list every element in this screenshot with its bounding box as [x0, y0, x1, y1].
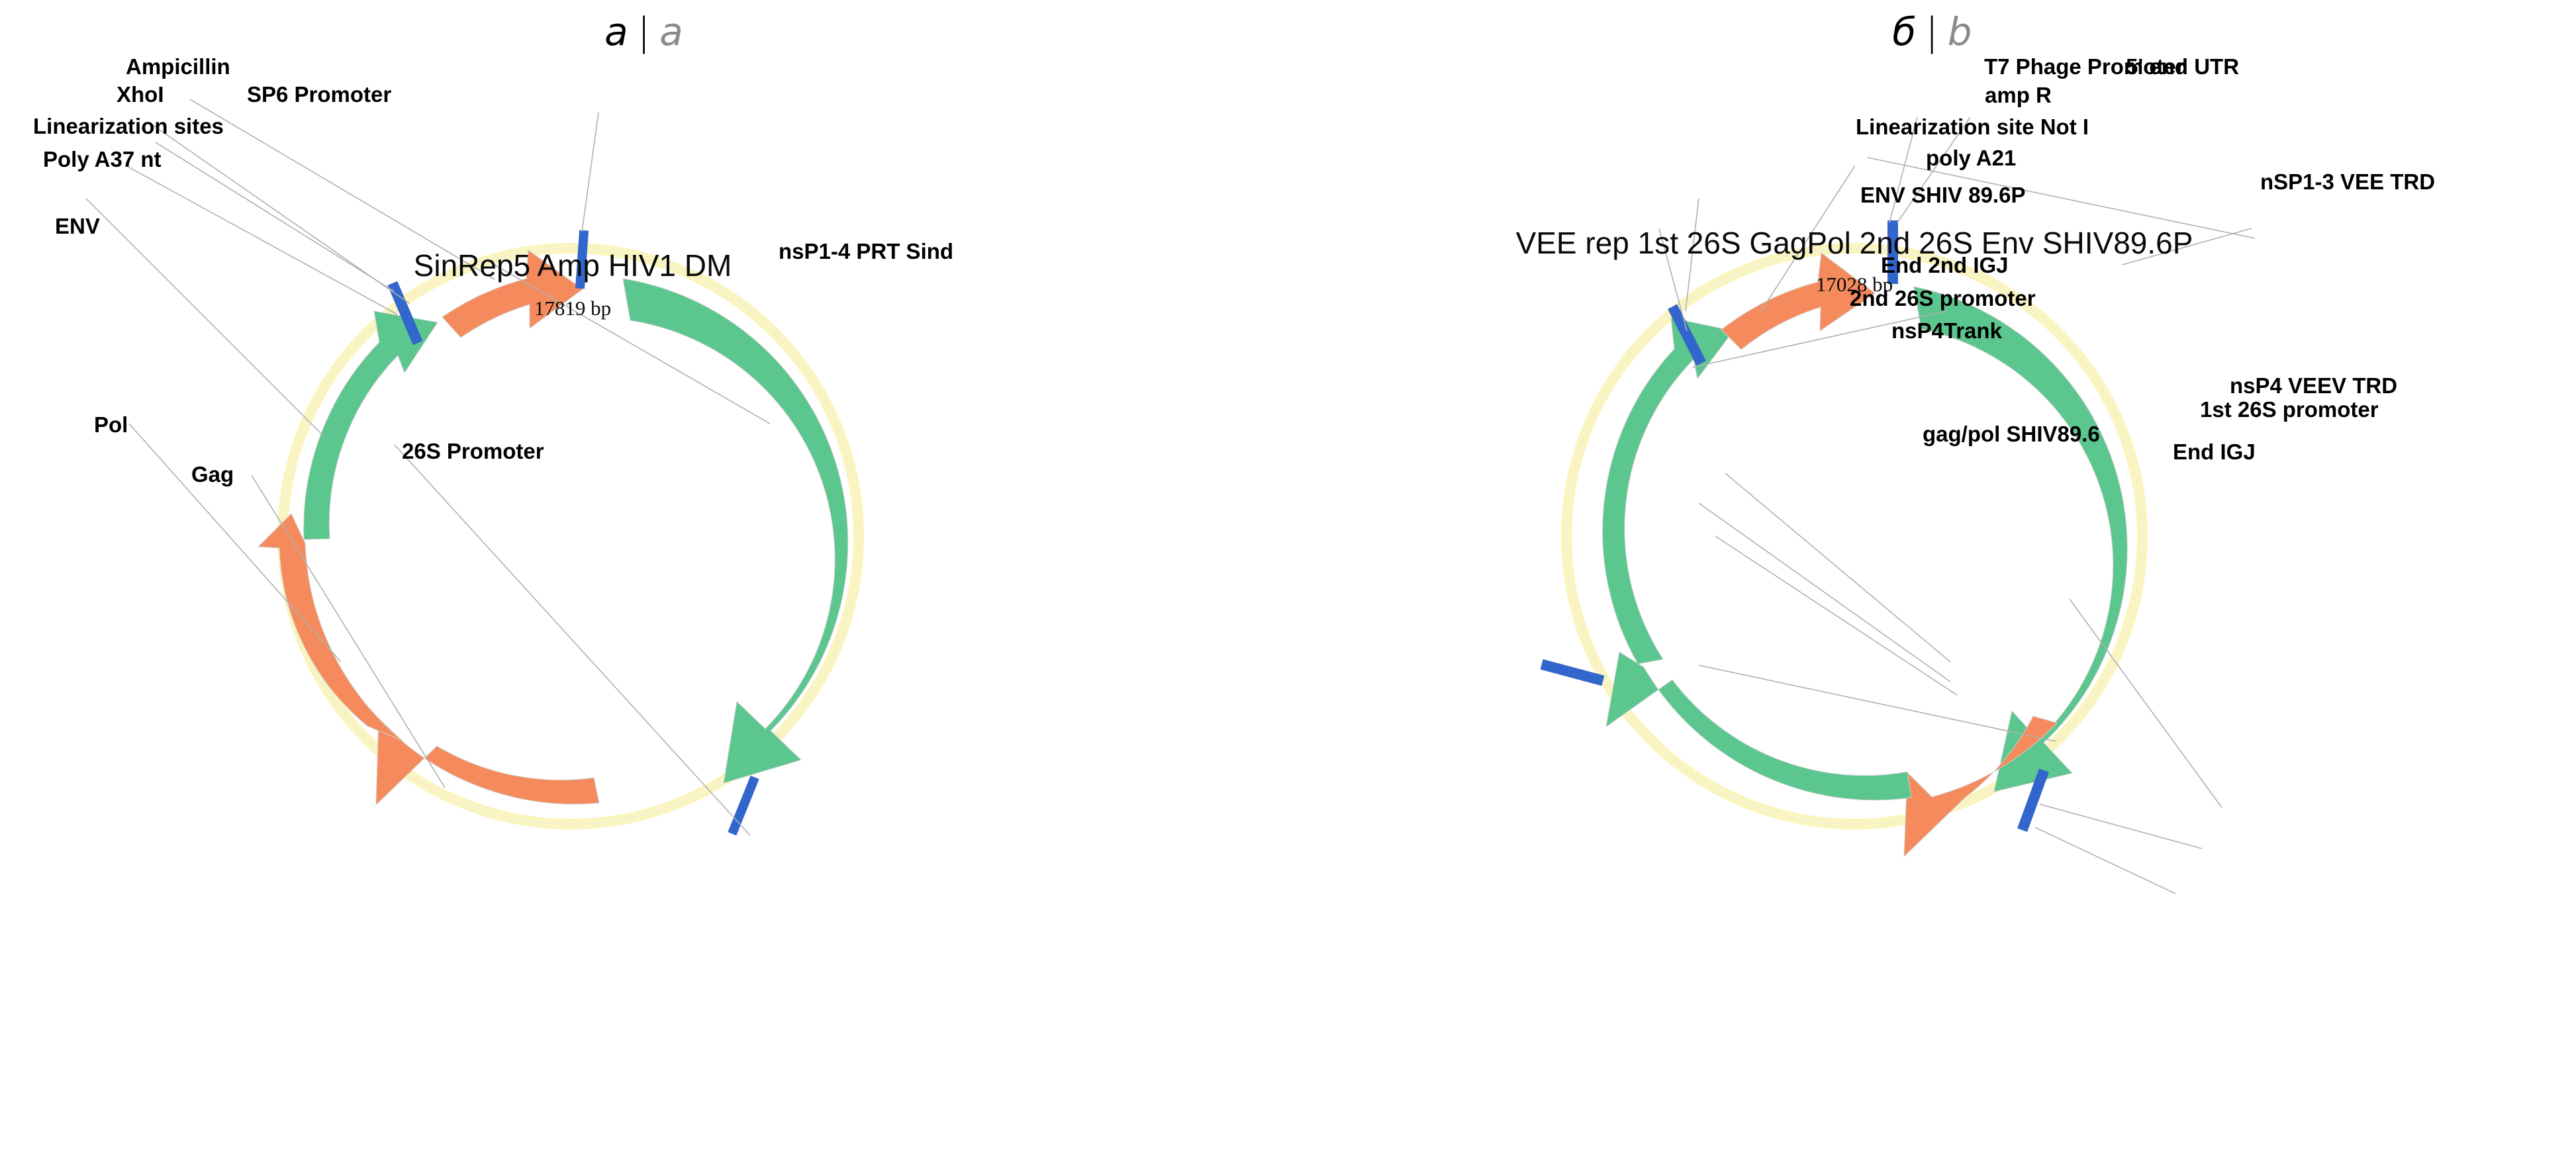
- label-end-igj: End IGJ: [2173, 441, 2256, 463]
- plasmid-figure: a|a: [0, 0, 2576, 1163]
- label-5-end-utr: 5' end UTR: [2126, 56, 2239, 77]
- label-pol: Pol: [94, 414, 128, 436]
- label-poly-a21: poly A21: [1926, 147, 2016, 169]
- label-env-shiv-896p: ENV SHIV 89.6P: [1860, 184, 2025, 206]
- site-26s-promoter: [728, 776, 759, 836]
- label-poly-a37: Poly A37 nt: [43, 148, 162, 170]
- plasmid-length-a: 17819 bp: [0, 297, 1145, 320]
- panel-a: a|a: [0, 0, 1288, 1163]
- label-xhoi: XhoI: [117, 83, 164, 105]
- label-nsp4-veev-trd: nsP4 VEEV TRD: [2230, 375, 2397, 396]
- label-linearization-noti: Linearization site Not I: [1856, 116, 2089, 138]
- plasmid-map-a: [0, 0, 1288, 1163]
- label-ampicillin: Ampicillin: [126, 56, 230, 77]
- label-1st-26s-promoter: 1st 26S promoter: [2200, 398, 2379, 420]
- plasmid-name-b: VEE rep 1st 26S GagPol 2nd 26S Env SHIV8…: [1288, 225, 2420, 261]
- label-amp-r: amp R: [1985, 84, 2052, 106]
- label-nsp1-3-vee-trd: nSP1-3 VEE TRD: [2260, 171, 2435, 193]
- feature-nsp1-3-vee-trd: [1914, 287, 2127, 792]
- feature-gag-pol-shiv896: [1606, 652, 1911, 800]
- label-sp6-promoter: SP6 Promoter: [247, 83, 391, 105]
- plasmid-name-a: SinRep5 Amp HIV1 DM: [0, 248, 1145, 283]
- panel-b: б|b: [1288, 0, 2576, 1163]
- label-linearization-sites: Linearization sites: [33, 115, 224, 137]
- feature-nsp1-4-prt-sind: [623, 279, 848, 783]
- label-nsp4trank: nsP4Trank: [1891, 320, 2002, 342]
- feature-env: [304, 311, 438, 539]
- leader-lines-a: [86, 99, 770, 835]
- plasmid-length-b: 17028 bp: [1288, 273, 2420, 297]
- label-env: ENV: [55, 215, 100, 237]
- backbone-circle-b: [1566, 248, 2142, 824]
- label-gag-pol-shiv896: gag/pol SHIV89.6: [1923, 423, 2100, 445]
- label-26s-promoter: 26S Promoter: [402, 440, 544, 462]
- feature-pol: [258, 514, 403, 741]
- label-gag: Gag: [191, 463, 234, 485]
